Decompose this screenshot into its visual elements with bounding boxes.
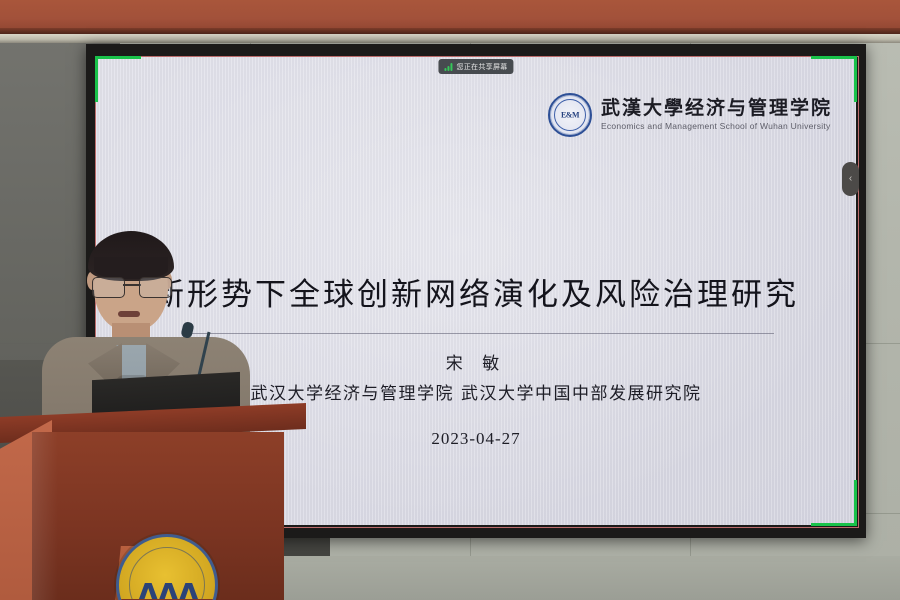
upper-wall	[0, 0, 900, 34]
eyeglasses-icon	[92, 277, 172, 297]
school-name-cn: 武漢大學经济与管理学院	[601, 99, 832, 119]
title-divider	[192, 333, 774, 334]
seal-text: E&M	[550, 111, 590, 120]
conference-room-scene: E&M 武漢大學经济与管理学院 Economics and Management…	[0, 0, 900, 600]
university-branding: E&M 武漢大學经济与管理学院 Economics and Management…	[548, 93, 832, 137]
emblem-mark: ΛΛΛ	[137, 581, 198, 600]
branding-text: 武漢大學经济与管理学院 Economics and Management Sch…	[601, 99, 832, 131]
ceiling-trim	[0, 34, 900, 43]
wuhan-university-em-seal-icon: E&M	[548, 93, 592, 137]
presenter-hair	[88, 231, 174, 281]
presenter-mouth	[118, 311, 140, 317]
school-name-en: Economics and Management School of Wuhan…	[601, 122, 832, 131]
